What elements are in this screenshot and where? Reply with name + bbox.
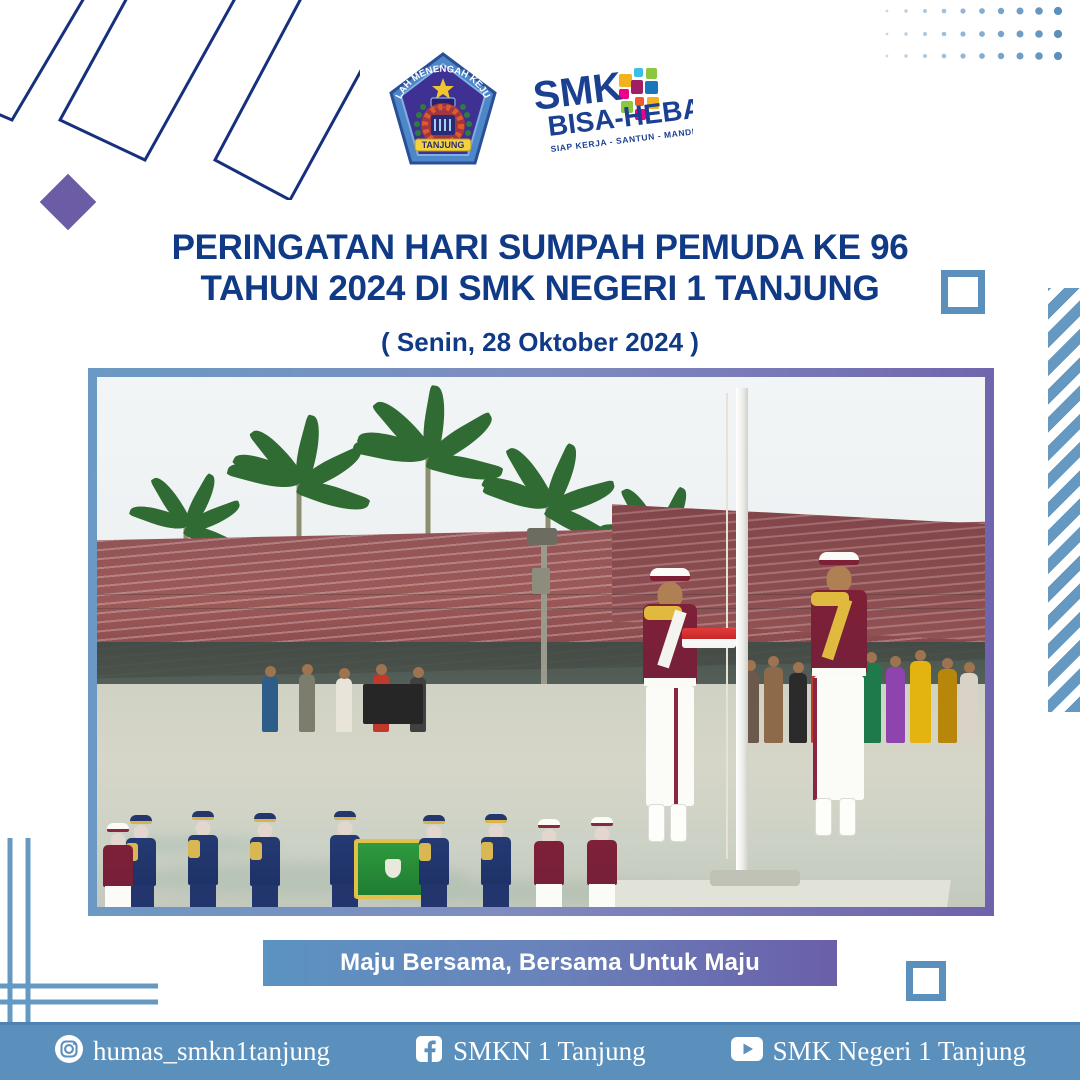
lamp-head <box>527 528 557 545</box>
social-instagram[interactable]: humas_smkn1tanjung <box>54 1034 330 1069</box>
lamp-control-box <box>532 568 550 594</box>
poster-canvas: SEKOLAH MENENGAH KEJURUAN TANJUNG <box>0 0 1080 1080</box>
footer-divider <box>0 1022 1080 1025</box>
page-title: PERINGATAN HARI SUMPAH PEMUDA KE 96 TAHU… <box>0 228 1080 309</box>
banner-board <box>363 684 423 724</box>
ceremony-photo <box>97 377 985 907</box>
smk-bisa-hebat-logo: SMK BISA-HEBAT SIAP KERJA - SANTUN - MAN… <box>533 60 693 160</box>
event-date-subtitle: ( Senin, 28 Oktober 2024 ) <box>0 327 1080 358</box>
flag-bearer-left <box>630 568 710 897</box>
flagpole <box>736 388 748 881</box>
social-youtube[interactable]: SMK Negeri 1 Tanjung <box>730 1036 1026 1067</box>
flag-rope <box>726 393 728 859</box>
school-crest-logo: SEKOLAH MENENGAH KEJURUAN TANJUNG <box>387 51 499 169</box>
instagram-handle: humas_smkn1tanjung <box>93 1038 330 1065</box>
tagline-banner: Maju Bersama, Bersama Untuk Maju <box>263 940 837 986</box>
title-line-2: TAHUN 2024 DI SMK NEGERI 1 TANJUNG <box>0 269 1080 310</box>
flagpole-base <box>710 870 800 886</box>
social-footer: humas_smkn1tanjung SMKN 1 Tanjung SMK Ne… <box>0 1022 1080 1080</box>
photo-frame <box>88 368 994 916</box>
instagram-icon <box>54 1034 84 1069</box>
purple-diamond-decoration <box>40 174 97 231</box>
social-facebook[interactable]: SMKN 1 Tanjung <box>414 1034 646 1069</box>
header-logos: SEKOLAH MENENGAH KEJURUAN TANJUNG <box>0 48 1080 172</box>
flag-bearer-right <box>799 552 879 897</box>
square-outline-decoration-bottom <box>906 961 946 1001</box>
youtube-channel-name: SMK Negeri 1 Tanjung <box>773 1038 1026 1065</box>
facebook-page-name: SMKN 1 Tanjung <box>453 1038 646 1065</box>
facebook-icon <box>414 1034 444 1069</box>
youtube-icon <box>730 1036 764 1067</box>
title-line-1: PERINGATAN HARI SUMPAH PEMUDA KE 96 <box>172 228 909 267</box>
lamp-post <box>541 536 547 706</box>
folded-flag <box>682 628 736 648</box>
svg-text:TANJUNG: TANJUNG <box>422 140 465 150</box>
title-block: PERINGATAN HARI SUMPAH PEMUDA KE 96 TAHU… <box>0 228 1080 358</box>
